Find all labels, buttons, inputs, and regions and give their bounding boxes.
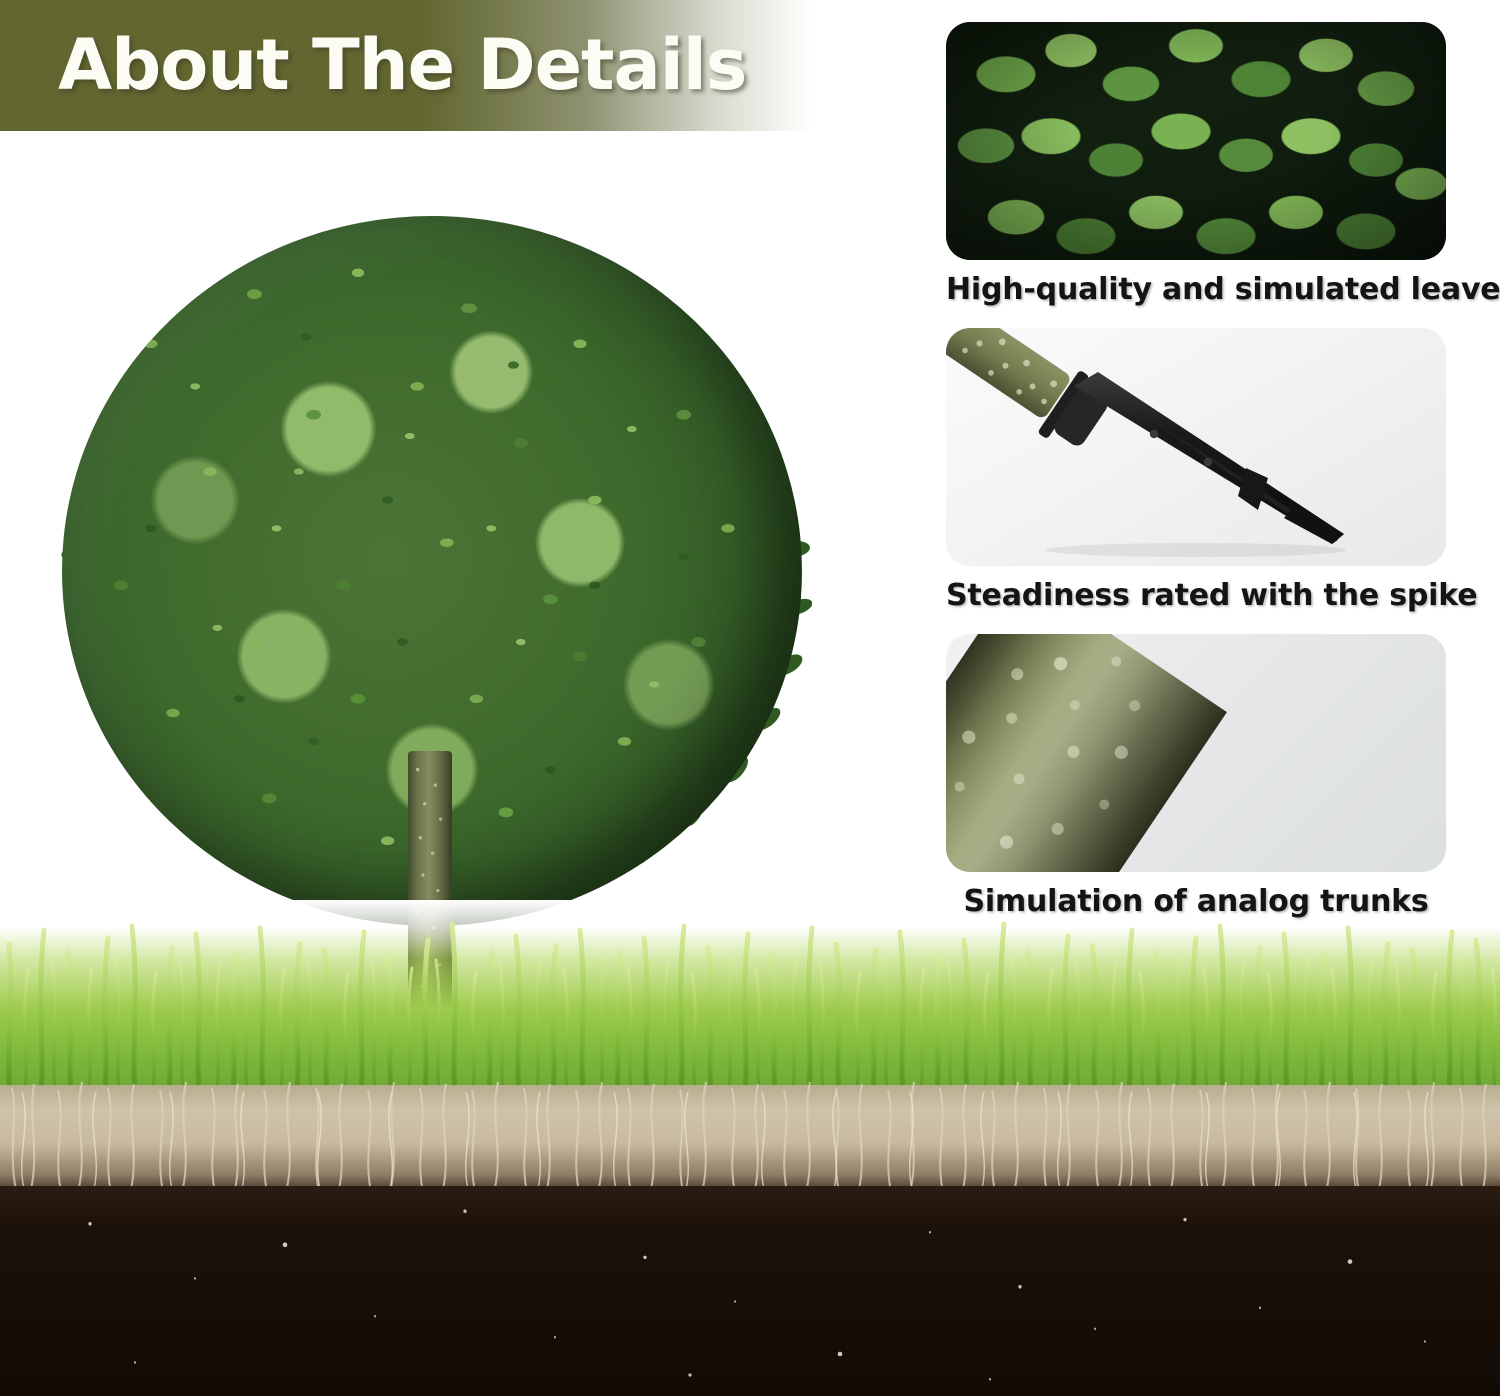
caption-leaves: High-quality and simulated leaves [946, 272, 1446, 307]
detail-block-leaves: High-quality and simulated leaves [946, 22, 1446, 307]
leaves-closeup-photo [946, 22, 1446, 260]
soil-speckle-texture [0, 1186, 1500, 1396]
detail-block-spike: Steadiness rated with the spike [946, 328, 1446, 613]
ground-cross-section [0, 900, 1500, 1396]
page-title: About The Details [58, 24, 746, 106]
caption-trunk: Simulation of analog trunks [946, 884, 1446, 919]
detail-block-trunk: Simulation of analog trunks [946, 634, 1446, 919]
header-banner: About The Details [0, 0, 812, 131]
ground-spike-diagram-icon [946, 328, 1446, 566]
soil-layer [0, 1186, 1500, 1396]
trunk-macro-body [946, 634, 1227, 872]
leaves-vignette-overlay [946, 22, 1446, 260]
trunk-texture-closeup-photo [946, 634, 1446, 872]
ground-spike-photo [946, 328, 1446, 566]
root-strands-icon [0, 1078, 1500, 1198]
grass-blades-icon [0, 900, 1500, 1100]
caption-spike: Steadiness rated with the spike [946, 578, 1446, 613]
trunk-macro-shading [946, 634, 1227, 872]
